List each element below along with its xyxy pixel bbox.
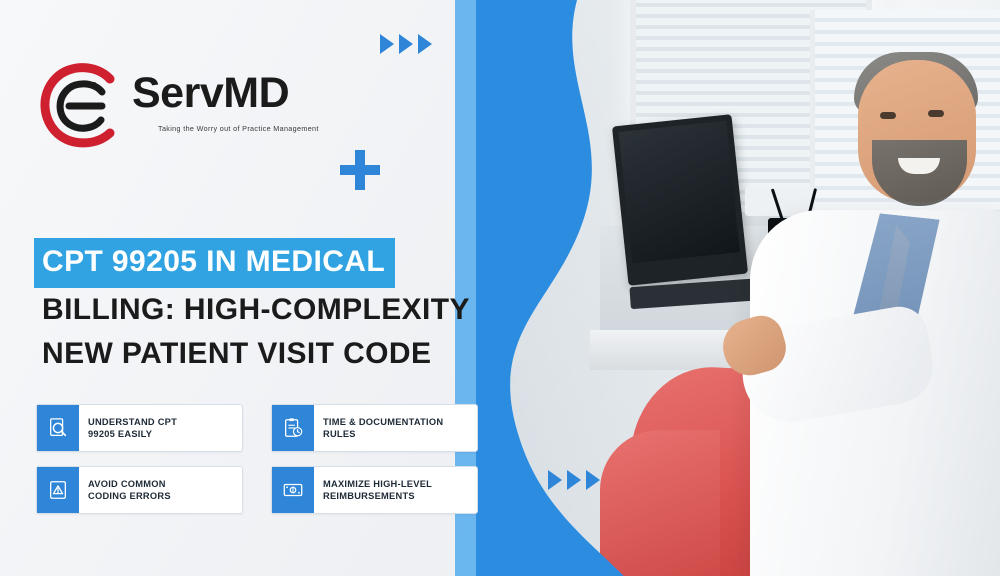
doctor-eye-left bbox=[880, 112, 896, 119]
feature-label-line1: TIME & DOCUMENTATION bbox=[323, 417, 443, 427]
headline-line-3: NEW PATIENT VISIT CODE bbox=[36, 332, 556, 376]
page-title: CPT 99205 IN MEDICAL BILLING: HIGH-COMPL… bbox=[36, 238, 556, 376]
feature-label-line2: CODING ERRORS bbox=[88, 491, 171, 501]
feature-label-line1: AVOID COMMON bbox=[88, 479, 166, 489]
feature-card-time-documentation[interactable]: TIME & DOCUMENTATION RULES bbox=[271, 404, 478, 452]
feature-card-maximize-reimbursements[interactable]: MAXIMIZE HIGH-LEVEL REIMBURSEMENTS bbox=[271, 466, 478, 514]
chevrons-top-icon bbox=[380, 30, 450, 60]
logo-wordmark: ServMD bbox=[132, 72, 289, 115]
feature-row-2: AVOID COMMON CODING ERRORS bbox=[36, 466, 496, 514]
magnifier-document-icon bbox=[37, 405, 79, 451]
feature-label: AVOID COMMON CODING ERRORS bbox=[79, 467, 177, 513]
feature-list: UNDERSTAND CPT 99205 EASILY bbox=[36, 404, 496, 528]
plus-icon bbox=[338, 148, 382, 192]
doctor-eye-right bbox=[928, 110, 944, 117]
chevrons-bottom-icon bbox=[548, 466, 618, 496]
feature-label: MAXIMIZE HIGH-LEVEL REIMBURSEMENTS bbox=[314, 467, 438, 513]
feature-label: TIME & DOCUMENTATION RULES bbox=[314, 405, 449, 451]
warning-triangle-icon bbox=[37, 467, 79, 513]
feature-label-line2: 99205 EASILY bbox=[88, 429, 152, 439]
logo-tagline: Taking the Worry out of Practice Managem… bbox=[158, 124, 319, 133]
headline-line-1: CPT 99205 IN MEDICAL bbox=[34, 238, 395, 288]
feature-label-line1: UNDERSTAND CPT bbox=[88, 417, 177, 427]
feature-label-line1: MAXIMIZE HIGH-LEVEL bbox=[323, 479, 432, 489]
banner: ServMD Taking the Worry out of Practice … bbox=[0, 0, 1000, 576]
clipboard-clock-icon bbox=[272, 405, 314, 451]
feature-row-1: UNDERSTAND CPT 99205 EASILY bbox=[36, 404, 496, 452]
feature-label-line2: RULES bbox=[323, 429, 356, 439]
logo[interactable]: ServMD Taking the Worry out of Practice … bbox=[36, 62, 296, 148]
feature-label-line2: REIMBURSEMENTS bbox=[323, 491, 415, 501]
money-bill-icon bbox=[272, 467, 314, 513]
feature-card-understand-cpt[interactable]: UNDERSTAND CPT 99205 EASILY bbox=[36, 404, 243, 452]
feature-card-avoid-errors[interactable]: AVOID COMMON CODING ERRORS bbox=[36, 466, 243, 514]
headline-line-2: BILLING: HIGH-COMPLEXITY bbox=[36, 288, 556, 332]
logo-e-icon bbox=[36, 62, 122, 148]
feature-label: UNDERSTAND CPT 99205 EASILY bbox=[79, 405, 183, 451]
